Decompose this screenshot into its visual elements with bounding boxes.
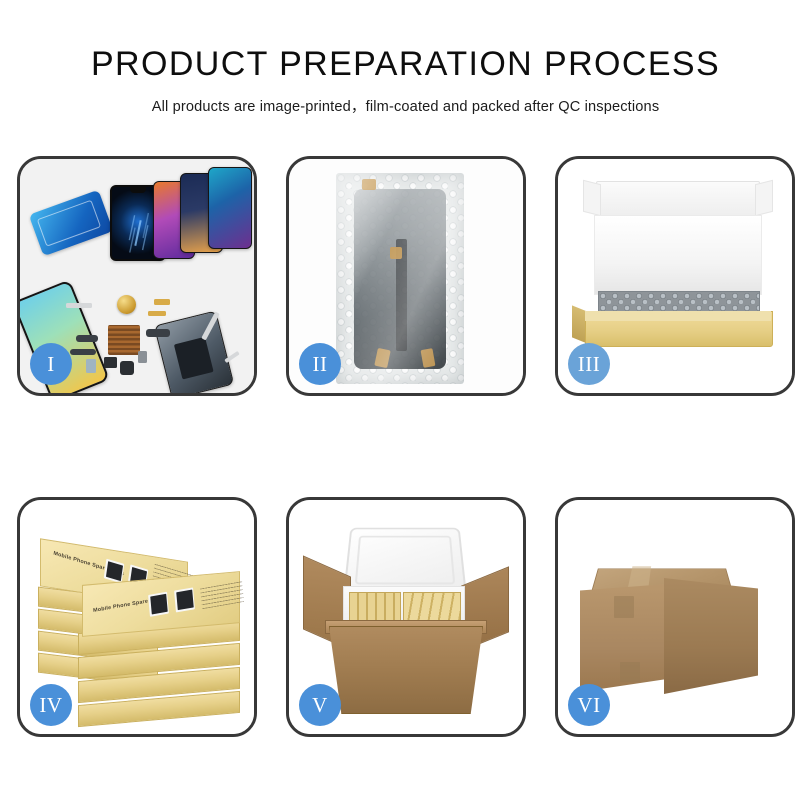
battery-connector-part	[138, 351, 147, 363]
speaker-mesh-part	[66, 303, 92, 308]
inner-box-front-edge	[585, 311, 771, 321]
disassembled-phone-back	[154, 310, 234, 393]
step-6-image: VI Sealed brown shipping carton ready fo…	[558, 500, 792, 734]
flex-cable-part-a	[76, 335, 98, 342]
foam-sheet	[594, 215, 762, 295]
vibration-motor-part	[120, 361, 134, 375]
tape-tab-mid	[390, 247, 402, 259]
flex-cable-part-c	[146, 329, 170, 337]
header: PRODUCT PREPARATION PROCESS All products…	[0, 0, 811, 116]
step-badge-5: V	[299, 684, 341, 726]
gold-box-stack: Mobile Phone Spare Parts Mobile Phone Sp…	[36, 534, 242, 710]
step-4-image: Mobile Phone Spare Parts Mobile Phone Sp…	[20, 500, 254, 734]
box-art-screen-c	[148, 592, 169, 617]
step-card-2[interactable]: II Single LCD screen assembly sealed in …	[286, 156, 526, 396]
shipping-carton-open	[329, 626, 483, 714]
foam-box-lid	[343, 528, 467, 595]
step-2-image: II Single LCD screen assembly sealed in …	[289, 159, 523, 393]
infographic-page: PRODUCT PREPARATION PROCESS All products…	[0, 0, 811, 811]
step-card-5[interactable]: V Gold boxes loaded into foam-lined ship…	[286, 497, 526, 737]
step-badge-6: VI	[568, 684, 610, 726]
step-card-4[interactable]: Mobile Phone Spare Parts Mobile Phone Sp…	[17, 497, 257, 737]
step-badge-3: III	[568, 343, 610, 385]
step-3-image: III Bubble-wrapped screens placed in gol…	[558, 159, 792, 393]
step-badge-2: II	[299, 343, 341, 385]
teal-phone	[208, 167, 252, 249]
step-badge-1: I	[30, 343, 72, 385]
step-5-caption: Gold boxes loaded into foam-lined shippi…	[289, 500, 290, 501]
step-badge-4: IV	[30, 684, 72, 726]
step-card-3[interactable]: III Bubble-wrapped screens placed in gol…	[555, 156, 795, 396]
step-5-image: V Gold boxes loaded into foam-lined ship…	[289, 500, 523, 734]
step-card-1[interactable]: I Mobile phone LCD screens and spare par…	[17, 156, 257, 396]
step-3-caption: Bubble-wrapped screens placed in gold in…	[558, 159, 559, 160]
carton-right-face	[664, 578, 758, 694]
gold-coin-part	[117, 295, 136, 314]
page-title: PRODUCT PREPARATION PROCESS	[0, 46, 811, 83]
gold-connector-part	[154, 299, 170, 305]
carton-label-lower	[620, 662, 640, 682]
box-art-screen-d	[174, 587, 195, 612]
ic-chip-part	[104, 357, 117, 368]
step-1-caption: Mobile phone LCD screens and spare parts…	[20, 159, 21, 160]
step-2-caption: Single LCD screen assembly sealed in bub…	[289, 159, 290, 160]
copper-chip-part	[108, 325, 140, 355]
step-6-caption: Sealed brown shipping carton ready for d…	[558, 500, 559, 501]
gold-flex-part	[148, 311, 166, 316]
process-steps-grid: I Mobile phone LCD screens and spare par…	[17, 156, 796, 737]
step-card-6[interactable]: VI Sealed brown shipping carton ready fo…	[555, 497, 795, 737]
flex-cable-part-b	[70, 349, 96, 355]
wrapped-lcd-screen	[354, 189, 446, 369]
tape-tab-top	[362, 179, 376, 190]
box-art-screen-a	[104, 559, 125, 584]
page-subtitle: All products are image-printed，film-coat…	[0, 95, 811, 116]
box-spec-lines-front	[200, 580, 244, 609]
blue-screen-panel	[29, 190, 114, 257]
camera-module-part	[86, 359, 96, 373]
step-4-caption: Stack of gold retail boxes	[20, 500, 21, 501]
carton-label-upper	[614, 596, 634, 618]
step-1-image: I Mobile phone LCD screens and spare par…	[20, 159, 254, 393]
bubble-wrap-bag	[336, 173, 464, 384]
